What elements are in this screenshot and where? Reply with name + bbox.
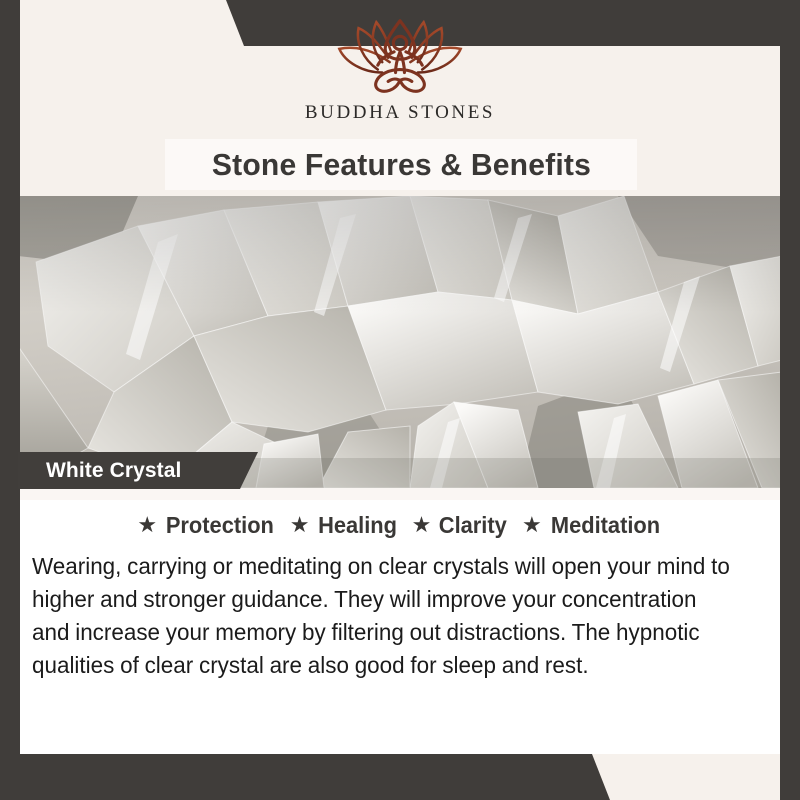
benefit-label: Healing: [318, 512, 397, 539]
frame-right-edge: [780, 46, 800, 800]
title-band: Stone Features & Benefits: [165, 139, 637, 190]
brand-header: BUDDHA STONES: [20, 0, 780, 140]
description-paragraph: Wearing, carrying or meditating on clear…: [32, 550, 735, 682]
benefit-label: Clarity: [439, 512, 507, 539]
page-title: Stone Features & Benefits: [211, 147, 590, 183]
star-icon: ★: [137, 514, 157, 536]
frame-bottom-bar: [0, 754, 800, 800]
benefits-row: ★ Protection ★ Healing ★ Clarity ★ Medit…: [20, 512, 780, 539]
stone-name-label: White Crystal: [46, 459, 182, 483]
white-crystal-cluster-photo: [18, 196, 782, 488]
product-info-poster: BUDDHA STONES Stone Features & Benefits: [0, 0, 800, 800]
benefit-item-protection: ★ Protection: [137, 512, 276, 539]
benefit-label: Protection: [166, 512, 274, 539]
content-panel: ★ Protection ★ Healing ★ Clarity ★ Medit…: [20, 488, 780, 754]
benefit-item-clarity: ★ Clarity: [412, 512, 509, 539]
frame-left-edge: [0, 0, 20, 754]
content-top-tint: [20, 488, 780, 500]
star-icon: ★: [412, 514, 432, 536]
star-icon: ★: [290, 514, 310, 536]
brand-name: BUDDHA STONES: [305, 102, 495, 124]
benefit-label: Meditation: [551, 512, 660, 539]
star-icon: ★: [522, 514, 542, 536]
benefit-item-healing: ★ Healing: [290, 512, 399, 539]
benefit-item-meditation: ★ Meditation: [522, 512, 663, 539]
stone-name-banner: White Crystal: [18, 452, 258, 489]
lotus-meditation-icon: [326, 16, 474, 98]
